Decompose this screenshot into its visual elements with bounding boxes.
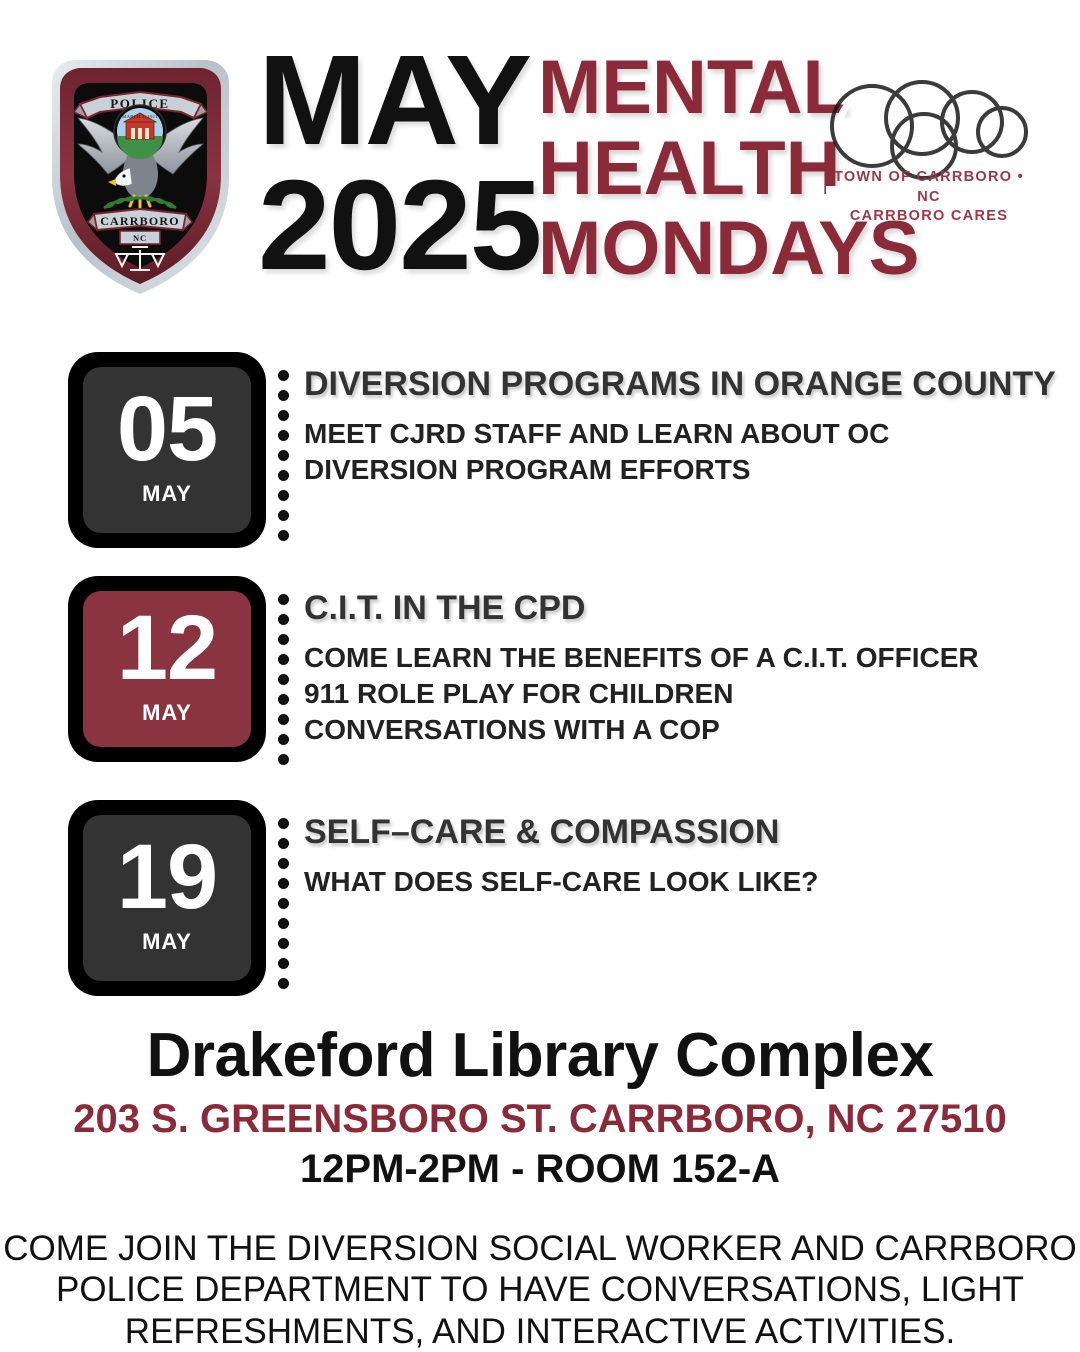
venue-address: 203 S. GREENSBORO ST. CARRBORO, NC 27510 — [0, 1096, 1080, 1142]
footer-blurb-line: REFRESHMENTS, AND INTERACTIVE ACTIVITIES… — [0, 1311, 1080, 1352]
footer-blurb-line: POLICE DEPARTMENT TO HAVE CONVERSATIONS,… — [0, 1269, 1080, 1310]
event-description-line: COME LEARN THE BENEFITS OF A C.I.T. OFFI… — [304, 640, 1080, 676]
event-description-line: DIVERSION PROGRAM EFFORTS — [304, 452, 1080, 488]
event-description-line: WHAT DOES SELF-CARE LOOK LIKE? — [304, 864, 1080, 900]
event-month: MAY — [142, 929, 192, 955]
event-day: 19 — [117, 835, 217, 920]
event-description-line: CONVERSATIONS WITH A COP — [304, 712, 1080, 748]
event-row: 05 MAY DIVERSION PROGRAMS IN ORANGE COUN… — [0, 352, 1080, 550]
header: POLICE MARCH 3, 1911 — [0, 0, 1080, 330]
date-box-may-05: 05 MAY — [68, 352, 266, 548]
date-box-may-12: 12 MAY — [68, 576, 266, 762]
carrboro-police-badge-icon: POLICE MARCH 3, 1911 — [38, 48, 243, 303]
venue-time-room: 12PM-2PM - ROOM 152-A — [0, 1146, 1080, 1192]
event-day: 05 — [117, 387, 217, 472]
event-heading: SELF–CARE & COMPASSION — [304, 814, 1080, 851]
venue-block: Drakeford Library Complex 203 S. GREENSB… — [0, 1022, 1080, 1192]
event-description: MEET CJRD STAFF AND LEARN ABOUT OC DIVER… — [304, 416, 1080, 488]
dotted-divider — [272, 818, 294, 998]
svg-text:NC: NC — [133, 233, 147, 243]
event-list: 05 MAY DIVERSION PROGRAMS IN ORANGE COUN… — [0, 352, 1080, 1024]
date-box-inner: 05 MAY — [83, 367, 251, 533]
tagline-line-2: CARRBORO CARES — [820, 207, 1038, 227]
dotted-divider — [272, 370, 294, 550]
page-title: MAY 2025 MENTAL HEALTH MONDAYS — [258, 38, 818, 308]
date-box-inner: 12 MAY — [83, 591, 251, 747]
event-month: MAY — [142, 481, 192, 507]
event-description-line: MEET CJRD STAFF AND LEARN ABOUT OC — [304, 416, 1080, 452]
event-row: 12 MAY C.I.T. IN THE CPD COME LEARN THE … — [0, 576, 1080, 774]
event-month: MAY — [142, 700, 192, 726]
event-description: COME LEARN THE BENEFITS OF A C.I.T. OFFI… — [304, 640, 1080, 747]
date-box-may-19: 19 MAY — [68, 800, 266, 996]
date-box-inner: 19 MAY — [83, 815, 251, 981]
event-day: 12 — [117, 606, 217, 691]
svg-text:CARRBORO: CARRBORO — [100, 214, 180, 228]
event-heading: DIVERSION PROGRAMS IN ORANGE COUNTY — [304, 366, 1080, 403]
event-details: SELF–CARE & COMPASSION WHAT DOES SELF-CA… — [294, 800, 1080, 900]
footer-blurb: COME JOIN THE DIVERSION SOCIAL WORKER AN… — [0, 1228, 1080, 1352]
dotted-divider — [272, 594, 294, 774]
event-description-line: 911 ROLE PLAY FOR CHILDREN — [304, 676, 1080, 712]
title-month: MAY — [258, 29, 530, 172]
event-details: DIVERSION PROGRAMS IN ORANGE COUNTY MEET… — [294, 352, 1080, 488]
event-heading: C.I.T. IN THE CPD — [304, 590, 1080, 627]
event-description: WHAT DOES SELF-CARE LOOK LIKE? — [304, 864, 1080, 900]
event-row: 19 MAY SELF–CARE & COMPASSION WHAT DOES … — [0, 800, 1080, 998]
event-details: C.I.T. IN THE CPD COME LEARN THE BENEFIT… — [294, 576, 1080, 748]
venue-name: Drakeford Library Complex — [0, 1022, 1080, 1090]
tagline-line-1: TOWN OF CARRBORO • NC — [820, 168, 1038, 207]
footer-blurb-line: COME JOIN THE DIVERSION SOCIAL WORKER AN… — [0, 1228, 1080, 1269]
carrboro-logo-tagline: TOWN OF CARRBORO • NC CARRBORO CARES — [820, 168, 1038, 227]
